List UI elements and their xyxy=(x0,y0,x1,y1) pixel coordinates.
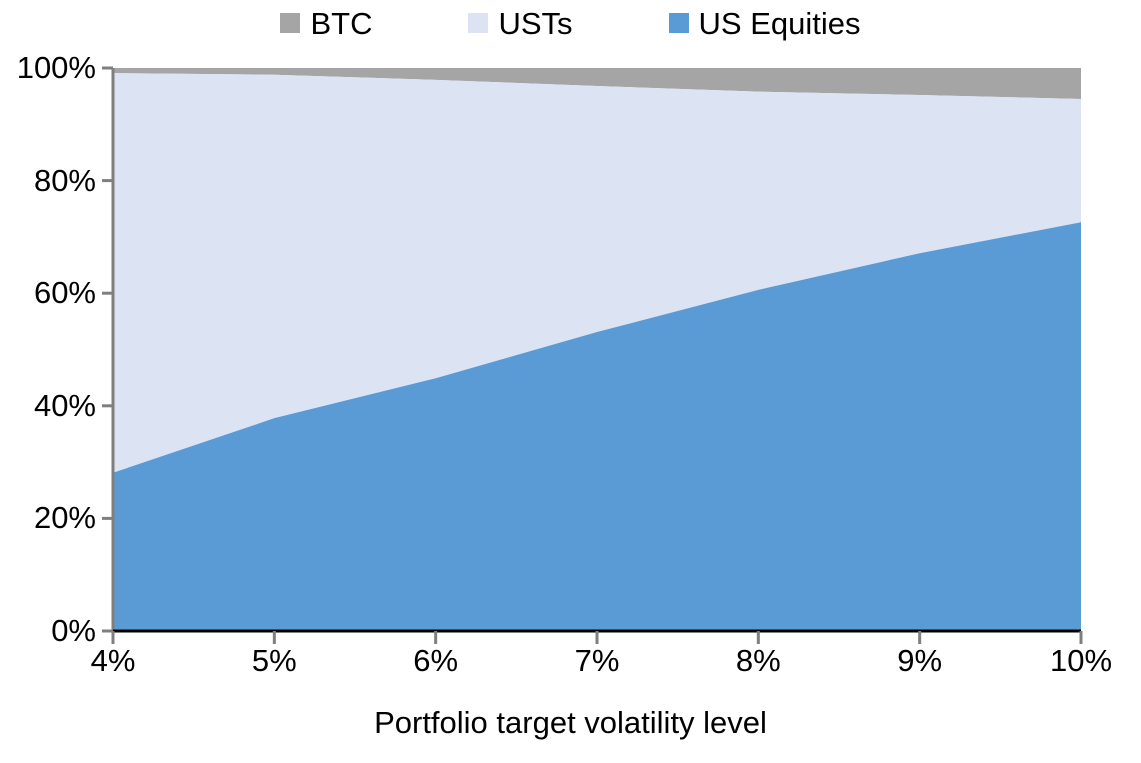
x-axis-tick-label: 6% xyxy=(413,645,458,676)
x-axis-tick-label: 4% xyxy=(91,645,136,676)
area-series-group xyxy=(113,68,1081,631)
stacked-area-chart: BTC USTs US Equities 0%20%40%60%80%10 xyxy=(0,0,1141,763)
x-axis-tick-label: 8% xyxy=(736,645,781,676)
x-axis-tick-labels: 4%5%6%7%8%9%10% xyxy=(0,645,1141,689)
x-axis-tick-label: 9% xyxy=(897,645,942,676)
y-axis-ticks xyxy=(102,68,113,631)
plot-area: 0%20%40%60%80%100% 4%5%6%7%8%9%10% xyxy=(0,0,1141,763)
y-axis-tick-label: 100% xyxy=(0,52,96,83)
y-axis-tick-label: 0% xyxy=(0,615,96,646)
y-axis-tick-label: 80% xyxy=(0,165,96,196)
y-axis-tick-label: 60% xyxy=(0,277,96,308)
y-axis-tick-label: 20% xyxy=(0,502,96,533)
x-axis-tick-label: 5% xyxy=(252,645,297,676)
x-axis-title: Portfolio target volatility level xyxy=(0,705,1141,741)
x-axis-tick-label: 10% xyxy=(1050,645,1112,676)
y-axis-tick-label: 40% xyxy=(0,390,96,421)
x-axis-tick-label: 7% xyxy=(575,645,620,676)
